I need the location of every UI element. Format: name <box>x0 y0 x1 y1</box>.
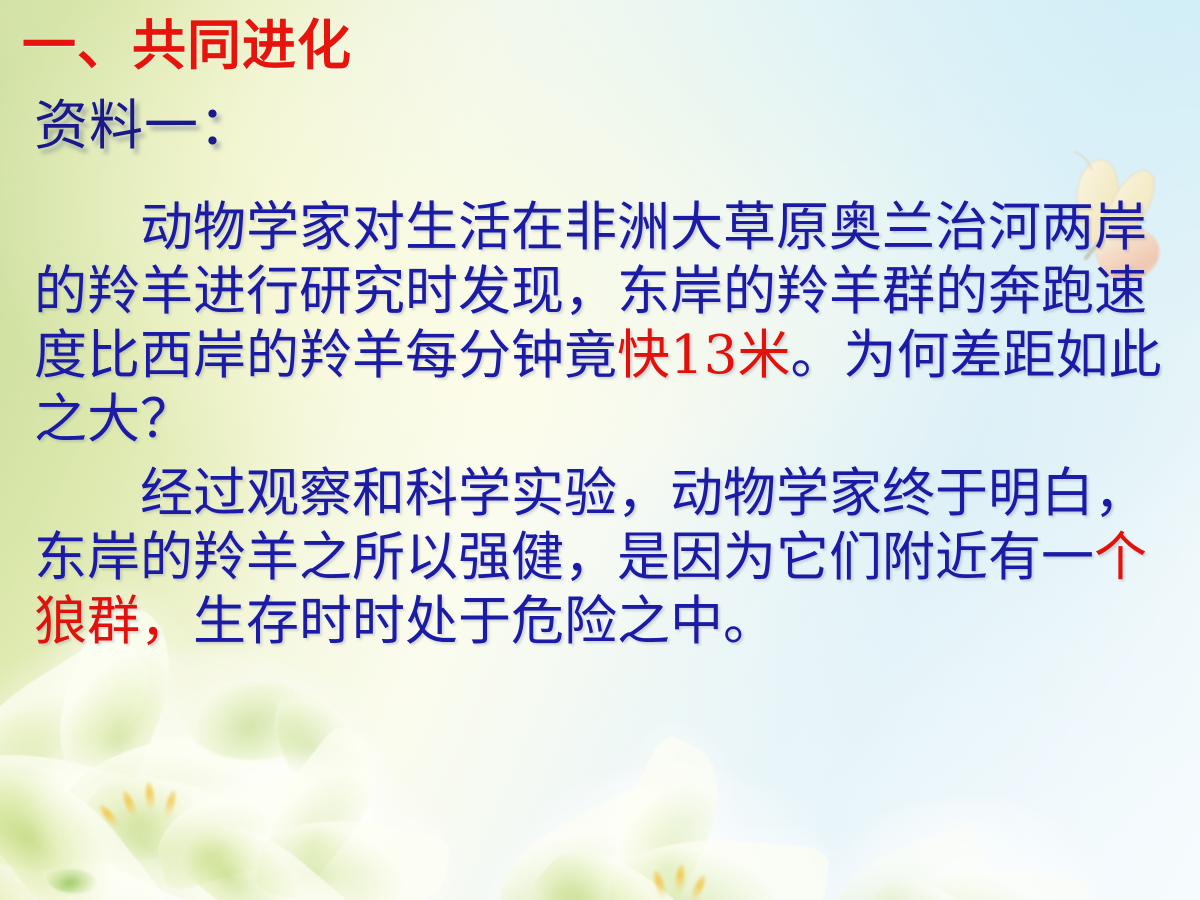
text-run: 经过观察和科学实验，动物学家终于明白，东岸的羚羊之所以强健，是因为它们附近有一 <box>34 463 1147 588</box>
paragraph-1: 动物学家对生活在非洲大草原奥兰治河两岸的羚羊进行研究时发现，东岸的羚羊群的奔跑速… <box>34 196 1184 452</box>
slide-text-content: 一、共同进化 资料一： 动物学家对生活在非洲大草原奥兰治河两岸的羚羊进行研究时发… <box>0 0 1200 900</box>
highlighted-text: 快13米 <box>617 325 790 386</box>
page-title: 一、共同进化 <box>22 16 352 74</box>
body-text: 动物学家对生活在非洲大草原奥兰治河两岸的羚羊进行研究时发现，东岸的羚羊群的奔跑速… <box>34 196 1184 654</box>
section-subtitle: 资料一： <box>34 96 254 155</box>
text-run: 生存时时处于危险之中。 <box>193 591 776 652</box>
slide-canvas: 一、共同进化 资料一： 动物学家对生活在非洲大草原奥兰治河两岸的羚羊进行研究时发… <box>0 0 1200 900</box>
paragraph-2: 经过观察和科学实验，动物学家终于明白，东岸的羚羊之所以强健，是因为它们附近有一个… <box>34 462 1184 654</box>
